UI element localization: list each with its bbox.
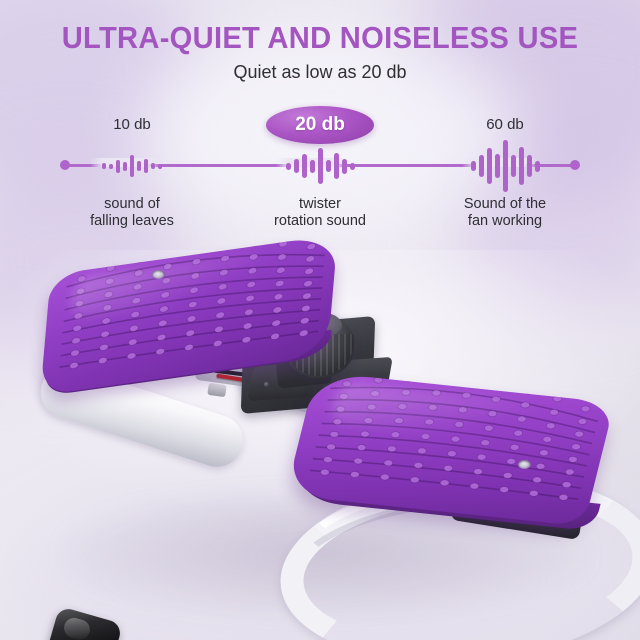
waveform-bar: [151, 163, 155, 169]
page-title: ULTRA-QUIET AND NOISELESS USE: [19, 20, 621, 56]
waveform-20db: [230, 140, 410, 192]
scale-tick-20db: 20 db twister rotation sound: [230, 100, 410, 240]
waveform-bar: [479, 155, 484, 177]
tick-caption: Sound of the fan working: [405, 196, 605, 230]
product-image: [0, 238, 640, 640]
waveform-bar: [326, 160, 331, 172]
waveform-bar: [535, 161, 540, 172]
waveform-bar: [503, 140, 508, 192]
tick-caption-line2: falling leaves: [90, 213, 174, 229]
cable-connector: [207, 383, 226, 397]
tick-value-label: 10 db: [42, 116, 222, 133]
waveform-bar: [310, 160, 315, 173]
waveform-bar: [123, 162, 127, 171]
waveform-bar: [137, 161, 141, 171]
waveform-bar: [130, 155, 134, 177]
decibel-scale: 10 db sound of falling leaves 20 db twis…: [0, 100, 640, 240]
waveform-60db: [415, 140, 595, 192]
tick-caption-line2: rotation sound: [274, 213, 366, 229]
tick-caption: sound of falling leaves: [32, 196, 232, 230]
waveform-bar: [495, 154, 500, 178]
scale-tick-10db: 10 db sound of falling leaves: [42, 100, 222, 240]
waveform-bar: [527, 155, 532, 177]
waveform-bar: [519, 147, 524, 185]
waveform-bar: [318, 148, 323, 184]
waveform-bar: [116, 160, 120, 173]
waveform-bar: [158, 164, 162, 169]
waveform-10db: [42, 140, 222, 192]
tick-caption: twister rotation sound: [220, 196, 420, 230]
waveform-bar: [102, 163, 106, 169]
pedal-screw-hole: [152, 270, 165, 279]
pedal-screw-hole: [518, 460, 531, 469]
waveform-bar: [350, 163, 355, 170]
waveform-bar: [302, 154, 307, 178]
tick-caption-line2: fan working: [468, 213, 542, 229]
status-badge: 20 db: [266, 106, 374, 144]
badge-label: 20 db: [266, 106, 374, 144]
page-subtitle: Quiet as low as 20 db: [0, 62, 640, 83]
waveform-bar: [511, 155, 516, 177]
waveform-bar: [109, 164, 113, 169]
waveform-bar: [487, 148, 492, 184]
scale-tick-60db: 60 db Sound of the fan working: [415, 100, 595, 240]
tick-caption-line1: sound of: [104, 196, 160, 212]
screw: [264, 382, 269, 387]
waveform-bar: [286, 163, 291, 170]
product-feature-banner: ULTRA-QUIET AND NOISELESS USE Quiet as l…: [0, 0, 640, 640]
waveform-bar: [471, 161, 476, 171]
waveform-bar: [342, 159, 347, 174]
tick-caption-line1: twister: [299, 196, 341, 212]
tick-caption-line1: Sound of the: [464, 196, 546, 212]
waveform-bar: [334, 153, 339, 179]
tick-value-label: 60 db: [415, 116, 595, 133]
waveform-bar: [144, 159, 148, 173]
waveform-bar: [294, 159, 299, 173]
